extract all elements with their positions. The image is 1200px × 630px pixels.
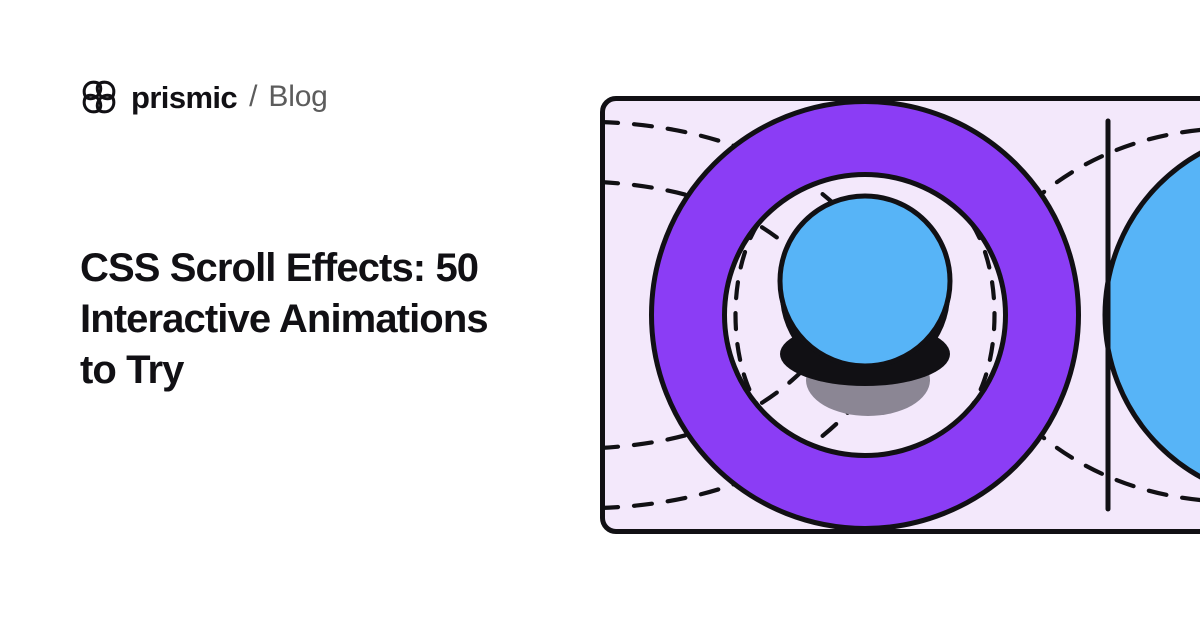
brand-section-label: Blog — [268, 82, 327, 112]
brand-lockup[interactable]: prismic / Blog — [80, 74, 328, 120]
open-graph-card: prismic / Blog CSS Scroll Effects: 50 In… — [0, 0, 1200, 630]
page-title: CSS Scroll Effects: 50 Interactive Anima… — [80, 243, 555, 397]
prismic-logo-icon — [80, 78, 118, 116]
hero-illustration-svg — [600, 96, 1200, 534]
hero-illustration — [600, 96, 1200, 534]
brand-name: prismic — [131, 82, 237, 113]
blue-sphere — [780, 196, 950, 366]
brand-separator: / — [249, 82, 257, 112]
